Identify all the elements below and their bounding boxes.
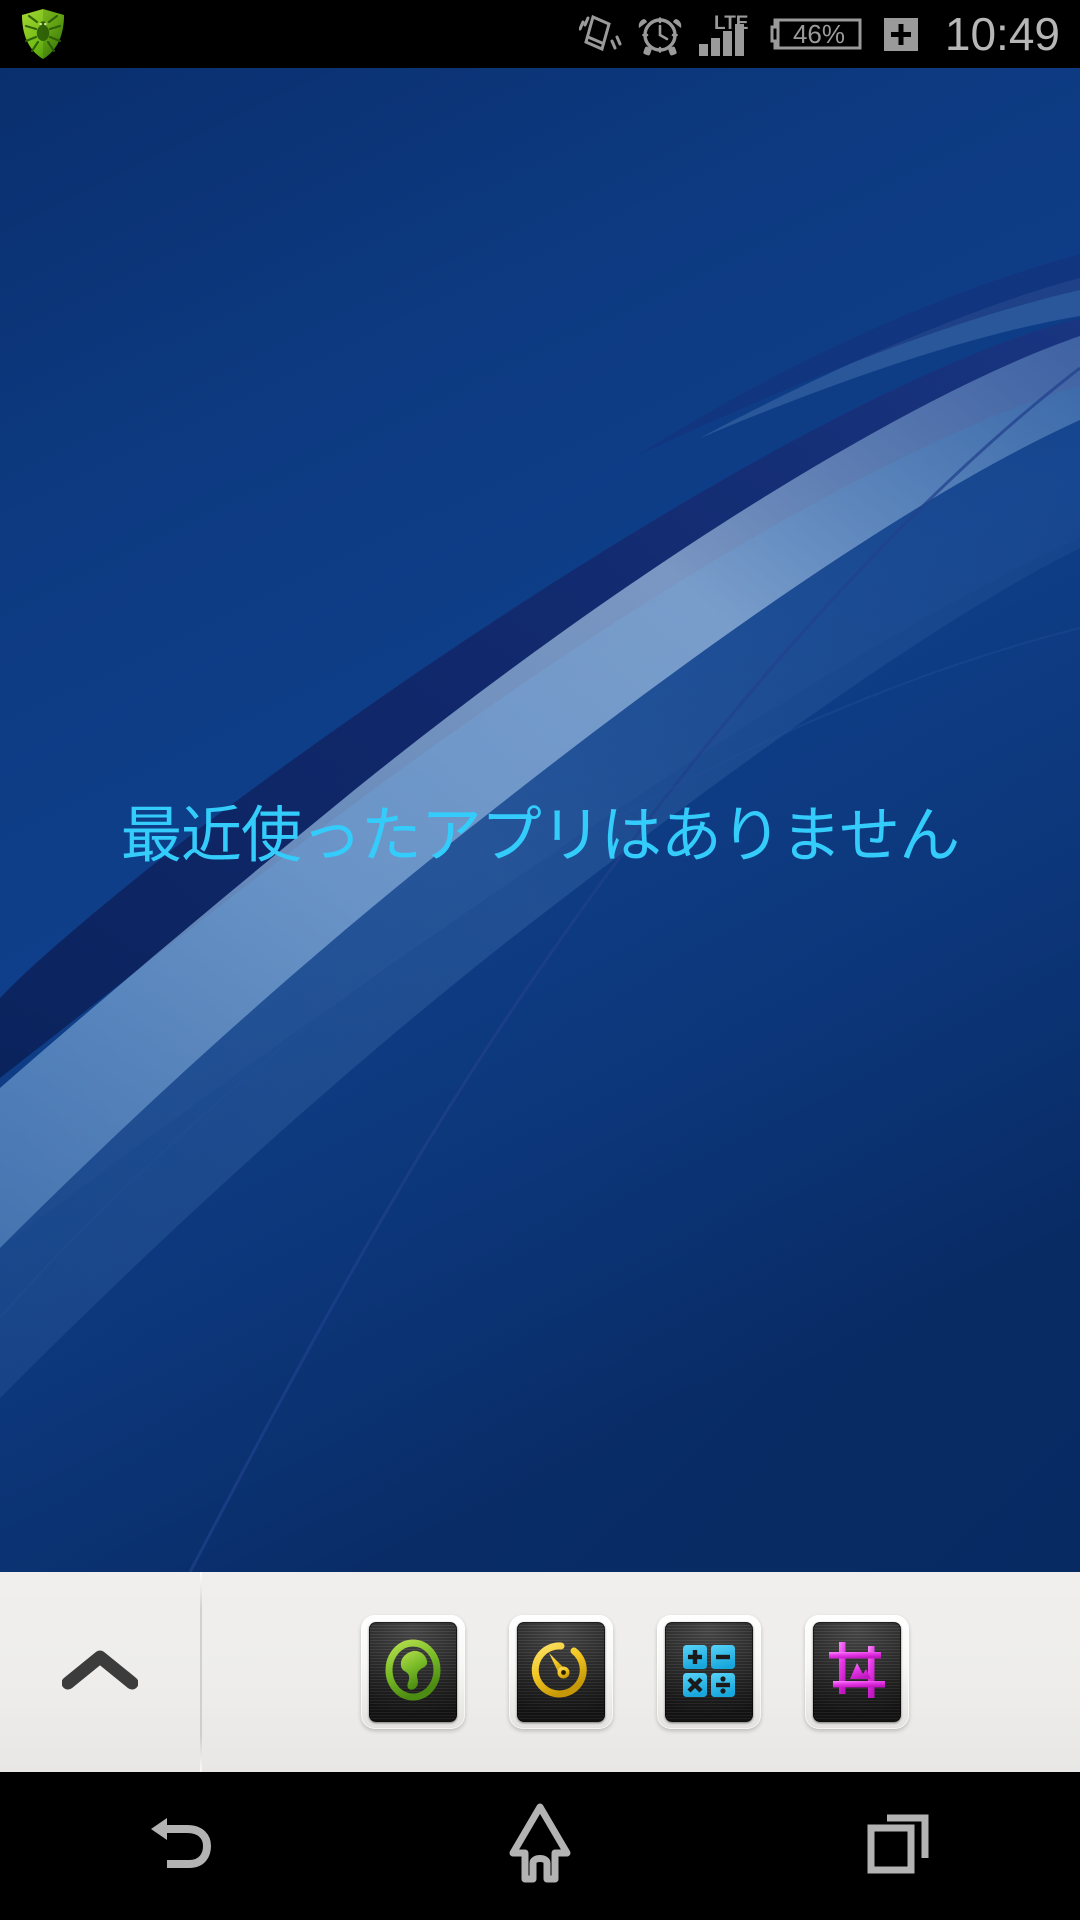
- small-app-tile-bg: [517, 1622, 605, 1722]
- battery-percent-label: 46%: [793, 19, 845, 49]
- vibrate-shake-icon: [579, 11, 623, 57]
- nav-back-button[interactable]: [0, 1772, 360, 1920]
- navigation-bar: [0, 1772, 1080, 1920]
- lte-signal-icon: LTE: [697, 10, 755, 58]
- wallpaper: [0, 68, 1080, 1572]
- alarm-clock-icon: [637, 11, 683, 57]
- phone-screen: 最近使ったアプリはありません: [0, 0, 1080, 1920]
- small-apps-dock: [0, 1572, 1080, 1772]
- battery-charging-plus-icon: [883, 11, 919, 57]
- recents-icon: [857, 1804, 943, 1889]
- calculator-icon: [678, 1639, 740, 1706]
- nav-home-button[interactable]: [360, 1772, 720, 1920]
- status-bar: LTE 46%: [0, 0, 1080, 68]
- status-bar-system-icons: LTE 46%: [579, 10, 1080, 58]
- home-icon: [497, 1801, 583, 1892]
- chevron-up-icon: [62, 1647, 138, 1698]
- crop-image-icon: [826, 1639, 888, 1706]
- back-arrow-icon: [137, 1804, 223, 1889]
- small-app-tile-bg: [369, 1622, 457, 1722]
- status-bar-notifications: [0, 8, 579, 60]
- status-bar-clock: 10:49: [945, 11, 1060, 57]
- small-app-tile-bg: [813, 1622, 901, 1722]
- drweb-antivirus-icon: [20, 8, 66, 60]
- small-apps-list: [202, 1615, 1080, 1729]
- timer-icon: [530, 1639, 592, 1706]
- nav-recents-button[interactable]: [720, 1772, 1080, 1920]
- small-app-timer[interactable]: [509, 1615, 613, 1729]
- battery-icon: 46%: [769, 11, 869, 57]
- small-app-screenshot[interactable]: [805, 1615, 909, 1729]
- small-app-tile-bg: [665, 1622, 753, 1722]
- small-app-browser[interactable]: [361, 1615, 465, 1729]
- small-app-calculator[interactable]: [657, 1615, 761, 1729]
- expand-small-apps-button[interactable]: [0, 1572, 200, 1772]
- globe-icon: [382, 1639, 444, 1706]
